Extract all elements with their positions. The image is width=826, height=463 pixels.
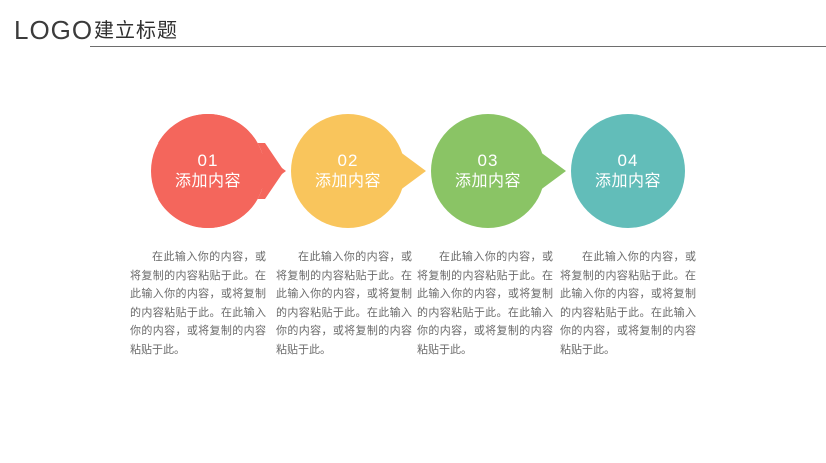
- description-row: 在此输入你的内容，或将复制的内容粘贴于此。在此输入你的内容，或将复制的内容粘贴于…: [0, 248, 826, 408]
- page-title: 建立标题: [94, 18, 178, 44]
- step-description-3: 在此输入你的内容，或将复制的内容粘贴于此。在此输入你的内容，或将复制的内容粘贴于…: [417, 248, 553, 359]
- step-shapes-svg: [0, 108, 826, 238]
- header-divider: [90, 46, 826, 47]
- step-shape-1[interactable]: [151, 114, 286, 228]
- logo: LOGO: [14, 15, 93, 45]
- step-circle-row: 01 添加内容 02 添加内容 03 添加内容 04 添加内容: [0, 108, 826, 238]
- slide-header: LOGO 建立标题: [0, 0, 826, 52]
- step-shape-3[interactable]: [431, 114, 566, 228]
- step-description-2: 在此输入你的内容，或将复制的内容粘贴于此。在此输入你的内容，或将复制的内容粘贴于…: [276, 248, 412, 359]
- step-shape-2[interactable]: [291, 114, 426, 228]
- step-shape-4[interactable]: [571, 114, 685, 228]
- step-description-4: 在此输入你的内容，或将复制的内容粘贴于此。在此输入你的内容，或将复制的内容粘贴于…: [560, 248, 696, 359]
- step-description-1: 在此输入你的内容，或将复制的内容粘贴于此。在此输入你的内容，或将复制的内容粘贴于…: [130, 248, 266, 359]
